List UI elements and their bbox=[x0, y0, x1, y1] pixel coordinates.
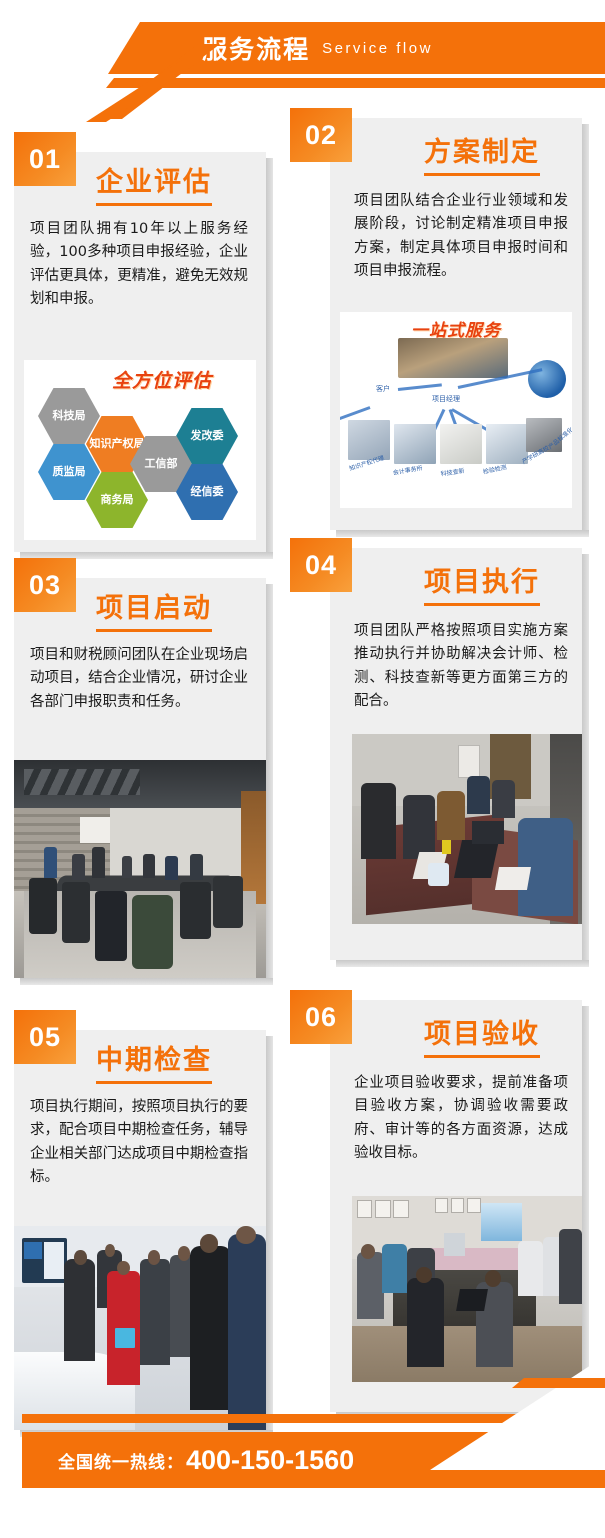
card-06-photo bbox=[352, 1196, 582, 1382]
card-04-number-badge: 04 bbox=[290, 538, 352, 592]
card-06-title: 项目验收 bbox=[424, 1012, 540, 1058]
card-04-title: 项目执行 bbox=[424, 560, 540, 606]
card-01-body: 项目团队拥有10年以上服务经验，100多种项目申报经验，企业评估更具体，更精准，… bbox=[30, 218, 248, 312]
card-06-body: 企业项目验收要求，提前准备项目验收方案，协调验收需要政府、审计等的各方面资源，达… bbox=[354, 1072, 568, 1166]
card-02-shadow-right bbox=[582, 124, 589, 537]
onestop-iso-seal bbox=[528, 360, 566, 398]
card-04-shadow-bottom bbox=[336, 960, 589, 967]
footer-hotline-label: 全国统一热线： bbox=[58, 1448, 184, 1473]
card-01-title-text: 企业评估 bbox=[96, 167, 212, 198]
card-05-title: 中期检查 bbox=[96, 1038, 212, 1084]
card-03-photo bbox=[14, 760, 266, 978]
onestop-label-2: 会计事务所 bbox=[392, 463, 423, 477]
card-01-title-rule bbox=[96, 203, 212, 206]
card-01-number-badge: 01 bbox=[14, 132, 76, 186]
card-01-shadow-right bbox=[266, 158, 273, 559]
hex-diagram-caption: 全方位评估 bbox=[112, 366, 212, 393]
header-banner-stripe bbox=[0, 78, 605, 88]
card-01-hex-diagram: 全方位评估 科技局 知识产权局 发改委 质监局 工信部 商务局 经信委 bbox=[24, 360, 256, 540]
card-03-title-rule bbox=[96, 629, 212, 632]
card-06[interactable]: 06 项目验收 企业项目验收要求，提前准备项目验收方案，协调验收需要政府、审计等… bbox=[330, 1000, 582, 1412]
onestop-hero-photo bbox=[398, 338, 508, 378]
card-05-title-text: 中期检查 bbox=[96, 1045, 212, 1076]
card-02-onestop-diagram: 一站式服务 客户 项目经理 知识产权代理 会计事务所 科技查新 检验检测 产学研… bbox=[340, 312, 572, 508]
footer-hotline-number[interactable]: 400-150-1560 bbox=[186, 1445, 354, 1476]
onestop-node-manager: 项目经理 bbox=[432, 394, 460, 404]
onestop-label-3: 科技查新 bbox=[440, 466, 465, 478]
card-03-number-badge: 03 bbox=[14, 558, 76, 612]
card-04-shadow-right bbox=[582, 554, 589, 967]
card-02[interactable]: 02 方案制定 项目团队结合企业行业领域和发展阶段，讨论制定精准项目申报方案，制… bbox=[330, 118, 582, 530]
card-06-number-badge: 06 bbox=[290, 990, 352, 1044]
card-01-title: 企业评估 bbox=[96, 160, 212, 206]
card-04[interactable]: 04 项目执行 项目团队严格按照项目实施方案推动执行并协助解决会计师、检测、科技… bbox=[330, 548, 582, 960]
page-header: 服务流程 Service flow bbox=[0, 22, 605, 84]
header-title-group: 服务流程 Service flow bbox=[0, 22, 605, 74]
card-02-title-text: 方案制定 bbox=[424, 137, 540, 168]
onestop-node-customer: 客户 bbox=[376, 384, 390, 394]
card-04-body: 项目团队严格按照项目实施方案推动执行并协助解决会计师、检测、科技查新等更方面第三… bbox=[354, 620, 568, 714]
card-06-title-text: 项目验收 bbox=[424, 1019, 540, 1050]
onestop-thumb-1 bbox=[348, 420, 390, 460]
card-04-title-text: 项目执行 bbox=[424, 567, 540, 598]
card-03[interactable]: 03 项目启动 项目和财税顾问团队在企业现场启动项目，结合企业情况，研讨企业各部… bbox=[14, 578, 266, 978]
card-02-body: 项目团队结合企业行业领域和发展阶段，讨论制定精准项目申报方案，制定具体项目申报时… bbox=[354, 190, 568, 284]
card-05-body: 项目执行期间，按照项目执行的要求，配合项目中期检查任务，辅导企业相关部门达成项目… bbox=[30, 1096, 248, 1190]
card-04-title-rule bbox=[424, 603, 540, 606]
card-05[interactable]: 05 中期检查 项目执行期间，按照项目执行的要求，配合项目中期检查任务，辅导企业… bbox=[14, 1030, 266, 1430]
card-05-number-badge: 05 bbox=[14, 1010, 76, 1064]
card-03-body: 项目和财税顾问团队在企业现场启动项目，结合企业情况，研讨企业各部门申报职责和任务… bbox=[30, 644, 248, 714]
card-06-title-rule bbox=[424, 1055, 540, 1058]
card-03-title: 项目启动 bbox=[96, 586, 212, 632]
onestop-thumb-2 bbox=[394, 424, 436, 464]
page-title: 服务流程 bbox=[202, 30, 310, 66]
card-03-shadow-bottom bbox=[20, 978, 273, 985]
page-subtitle: Service flow bbox=[322, 40, 433, 57]
onestop-thumb-3 bbox=[440, 424, 482, 464]
card-05-shadow-right bbox=[266, 1036, 273, 1437]
card-05-photo bbox=[14, 1226, 266, 1430]
card-02-number-badge: 02 bbox=[290, 108, 352, 162]
card-04-photo bbox=[352, 734, 582, 924]
footer-hotline: 全国统一热线： 400-150-1560 bbox=[58, 1432, 354, 1488]
page-footer: 全国统一热线： 400-150-1560 bbox=[0, 1414, 605, 1500]
card-05-title-rule bbox=[96, 1081, 212, 1084]
card-02-title: 方案制定 bbox=[424, 130, 540, 176]
onestop-label-4: 检验检测 bbox=[482, 462, 507, 476]
onestop-arrow-1 bbox=[398, 383, 442, 391]
card-06-shadow-right bbox=[582, 1006, 589, 1419]
card-02-title-rule bbox=[424, 173, 540, 176]
card-01[interactable]: 01 企业评估 项目团队拥有10年以上服务经验，100多种项目申报经验，企业评估… bbox=[14, 152, 266, 552]
card-03-title-text: 项目启动 bbox=[96, 593, 212, 624]
card-02-shadow-bottom bbox=[336, 530, 589, 537]
card-03-shadow-right bbox=[266, 584, 273, 985]
